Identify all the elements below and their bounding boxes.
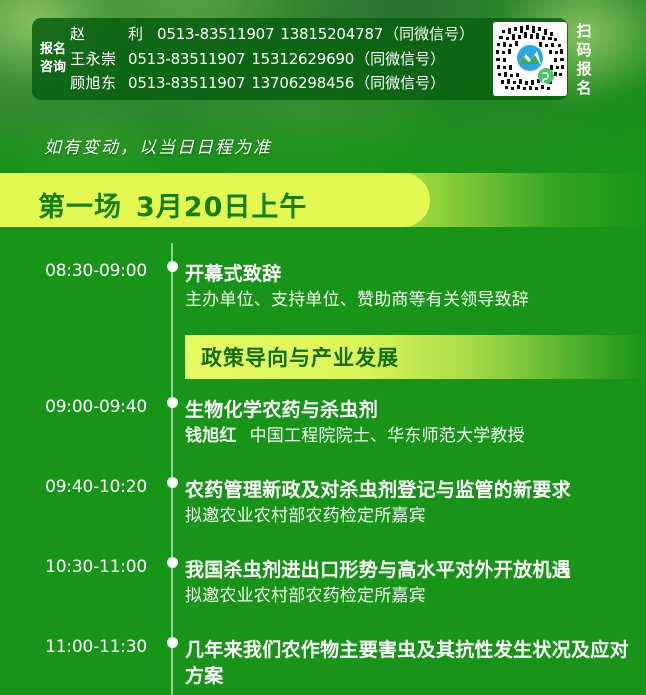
agenda-row: 10:30-11:00 我国杀虫剂进出口形势与高水平对外开放机遇 拟邀农业农村部… [0, 557, 646, 609]
qr-code-wrapper[interactable] [493, 22, 567, 96]
agenda-body: 农药管理新政及对杀虫剂登记与监管的新要求 拟邀农业农村部农药检定所嘉宾 [160, 477, 646, 529]
agenda-body: 我国杀虫剂进出口形势与高水平对外开放机遇 拟邀农业农村部农药检定所嘉宾 [160, 557, 646, 609]
contact-note: （同微信号） [355, 74, 445, 92]
agenda-time: 09:40-10:20 [0, 477, 160, 497]
agenda-body: 生物化学农药与杀虫剂 钱旭红中国工程院院士、华东师范大学教授 [160, 397, 646, 449]
agenda-time: 09:00-09:40 [0, 397, 160, 417]
agenda-body: 开幕式致辞 主办单位、支持单位、赞助商等有关领导致辞 [160, 261, 646, 313]
timeline-dot [167, 557, 178, 568]
agenda-section-title: 政策导向与产业发展 [185, 342, 399, 372]
spacer [0, 379, 646, 397]
session-date: 3月20日上午 [136, 192, 307, 223]
contact-row: 赵 利0513-8351190713815204787（同微信号） [70, 22, 562, 47]
agenda-row: 11:00-11:30 几年来我们农作物主要害虫及其抗性发生状况及应对方案 [0, 637, 646, 689]
agenda-list: 08:30-09:00 开幕式致辞 主办单位、支持单位、赞助商等有关领导致辞 政… [0, 243, 646, 689]
agenda-title: 几年来我们农作物主要害虫及其抗性发生状况及应对方案 [185, 637, 646, 689]
timeline-dot [167, 477, 178, 488]
agenda-title: 开幕式致辞 [185, 261, 646, 287]
agenda-subtitle: 拟邀农业农村部农药检定所嘉宾 [185, 503, 646, 529]
timeline-dot [167, 637, 178, 648]
contact-name: 顾旭东 [70, 71, 128, 96]
contact-row: 王永崇0513-8351190715312629690（同微信号） [70, 47, 562, 72]
contact-phone: 0513-83511907 [128, 50, 245, 68]
spacer [0, 609, 646, 637]
conference-agenda-poster: 报名咨询 赵 利0513-8351190713815204787（同微信号） 王… [0, 0, 646, 695]
contact-panel: 报名咨询 赵 利0513-8351190713815204787（同微信号） 王… [32, 18, 568, 100]
agenda-section-band: 政策导向与产业发展 [185, 335, 646, 379]
agenda-time: 10:30-11:00 [0, 557, 160, 577]
contact-phone: 0513-83511907 [157, 25, 274, 43]
agenda-row: 09:40-10:20 农药管理新政及对杀虫剂登记与监管的新要求 拟邀农业农村部… [0, 477, 646, 529]
timeline-dot [167, 261, 178, 272]
agenda-title: 生物化学农药与杀虫剂 [185, 397, 646, 423]
session-title: 第一场3月20日上午 [38, 185, 307, 224]
wechat-miniprogram-qr-code-icon[interactable] [493, 22, 567, 96]
agenda-subtitle: 钱旭红中国工程院院士、华东师范大学教授 [185, 423, 646, 449]
timeline-dot [167, 397, 178, 408]
contact-mobile: 13706298456 [251, 74, 354, 92]
agenda-time: 11:00-11:30 [0, 637, 160, 657]
contact-mobile: 13815204787 [280, 25, 383, 43]
contact-list: 赵 利0513-8351190713815204787（同微信号） 王永崇051… [66, 22, 562, 96]
contact-note: （同微信号） [384, 25, 474, 43]
contact-name: 赵 利 [70, 22, 157, 47]
spacer [0, 243, 646, 261]
session-label: 第一场 [38, 192, 122, 223]
contact-row: 顾旭东0513-8351190713706298456（同微信号） [70, 71, 562, 96]
agenda-title: 我国杀虫剂进出口形势与高水平对外开放机遇 [185, 557, 646, 583]
contact-phone: 0513-83511907 [128, 74, 245, 92]
agenda-title: 农药管理新政及对杀虫剂登记与监管的新要求 [185, 477, 646, 503]
contact-name: 王永崇 [70, 47, 128, 72]
contact-panel-label: 报名咨询 [40, 41, 66, 78]
agenda-body: 几年来我们农作物主要害虫及其抗性发生状况及应对方案 [160, 637, 646, 689]
agenda-row: 09:00-09:40 生物化学农药与杀虫剂 钱旭红中国工程院院士、华东师范大学… [0, 397, 646, 449]
agenda-time: 08:30-09:00 [0, 261, 160, 281]
agenda-speaker: 钱旭红 [185, 426, 237, 446]
schedule-notice: 如有变动，以当日日程为准 [44, 133, 272, 158]
agenda-subtitle: 拟邀农业农村部农药检定所嘉宾 [185, 583, 646, 609]
spacer [0, 529, 646, 557]
spacer [0, 313, 646, 335]
spacer [0, 449, 646, 477]
agenda-row: 08:30-09:00 开幕式致辞 主办单位、支持单位、赞助商等有关领导致辞 [0, 261, 646, 313]
contact-note: （同微信号） [355, 50, 445, 68]
agenda-speaker-affiliation: 中国工程院院士、华东师范大学教授 [250, 426, 525, 446]
scan-to-register-label: 扫码报名 [572, 22, 596, 98]
contact-mobile: 15312629690 [251, 50, 354, 68]
agenda-subtitle: 主办单位、支持单位、赞助商等有关领导致辞 [185, 287, 646, 313]
